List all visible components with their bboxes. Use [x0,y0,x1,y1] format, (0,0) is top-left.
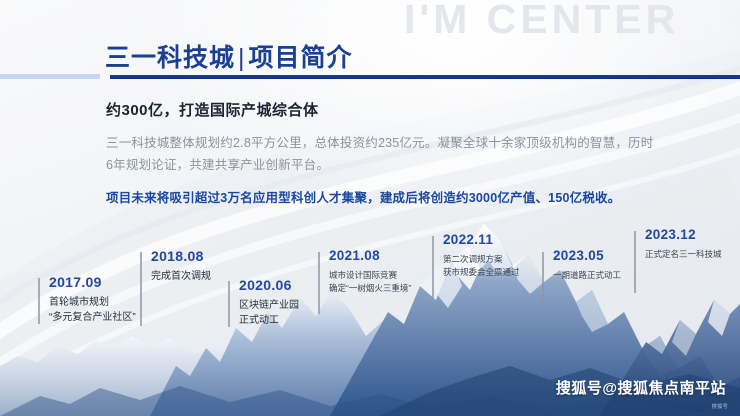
timeline-description: 完成首次调规 [151,269,211,284]
timeline-year: 2017.09 [49,274,102,290]
timeline-description-line2: “多元复合产业社区” [49,310,136,325]
timeline-description: 正式定名三一科技城 [645,248,722,261]
timeline-tick [634,231,636,293]
timeline-description-line1: 第二次调规方案 [443,253,520,266]
timeline-description: 首轮城市规划 “多元复合产业社区” [49,295,136,325]
timeline-tick [318,252,320,314]
timeline-description: 第二次调规方案 获市规委会全票通过 [443,253,520,279]
timeline-description-line1: 区块链产业园 [239,298,299,313]
timeline-description-line1: 正式定名三一科技城 [645,248,722,261]
timeline-description: 区块链产业园 正式动工 [239,298,299,328]
timeline-description-line1: 首轮城市规划 [49,295,136,310]
timeline-year: 2023.12 [645,227,696,242]
timeline-year: 2020.06 [239,277,292,293]
project-timeline: 2017.09 首轮城市规划 “多元复合产业社区” 2018.08 完成首次调规… [0,0,740,416]
sohu-watermark: 搜狐号@搜狐焦点南平站 [556,377,726,398]
slide-canvas: I'M CENTER 三一科技城|项目简介 约300亿，打造国际产城综合体 三一… [0,0,740,416]
timeline-year: 2018.08 [151,248,204,264]
timeline-description-line2: 正式动工 [239,313,299,328]
timeline-description-line1: 一期道路正式动工 [553,269,621,282]
timeline-tick [542,252,544,304]
timeline-description-line2: 获市规委会全票通过 [443,266,520,279]
timeline-tick [38,278,40,324]
timeline-tick [432,236,434,298]
sohu-watermark-sub: 搜狐号 [712,403,728,410]
timeline-year: 2021.08 [329,248,380,263]
timeline-tick [228,281,230,327]
timeline-year: 2022.11 [443,232,493,247]
timeline-description-line1: 完成首次调规 [151,269,211,284]
timeline-tick [140,252,142,326]
timeline-description-line1: 城市设计国际竞赛 [329,269,411,282]
timeline-description: 一期道路正式动工 [553,269,621,282]
timeline-description: 城市设计国际竞赛 确定“一树烟火三重境” [329,269,411,295]
timeline-year: 2023.05 [553,248,604,263]
timeline-description-line2: 确定“一树烟火三重境” [329,282,411,295]
